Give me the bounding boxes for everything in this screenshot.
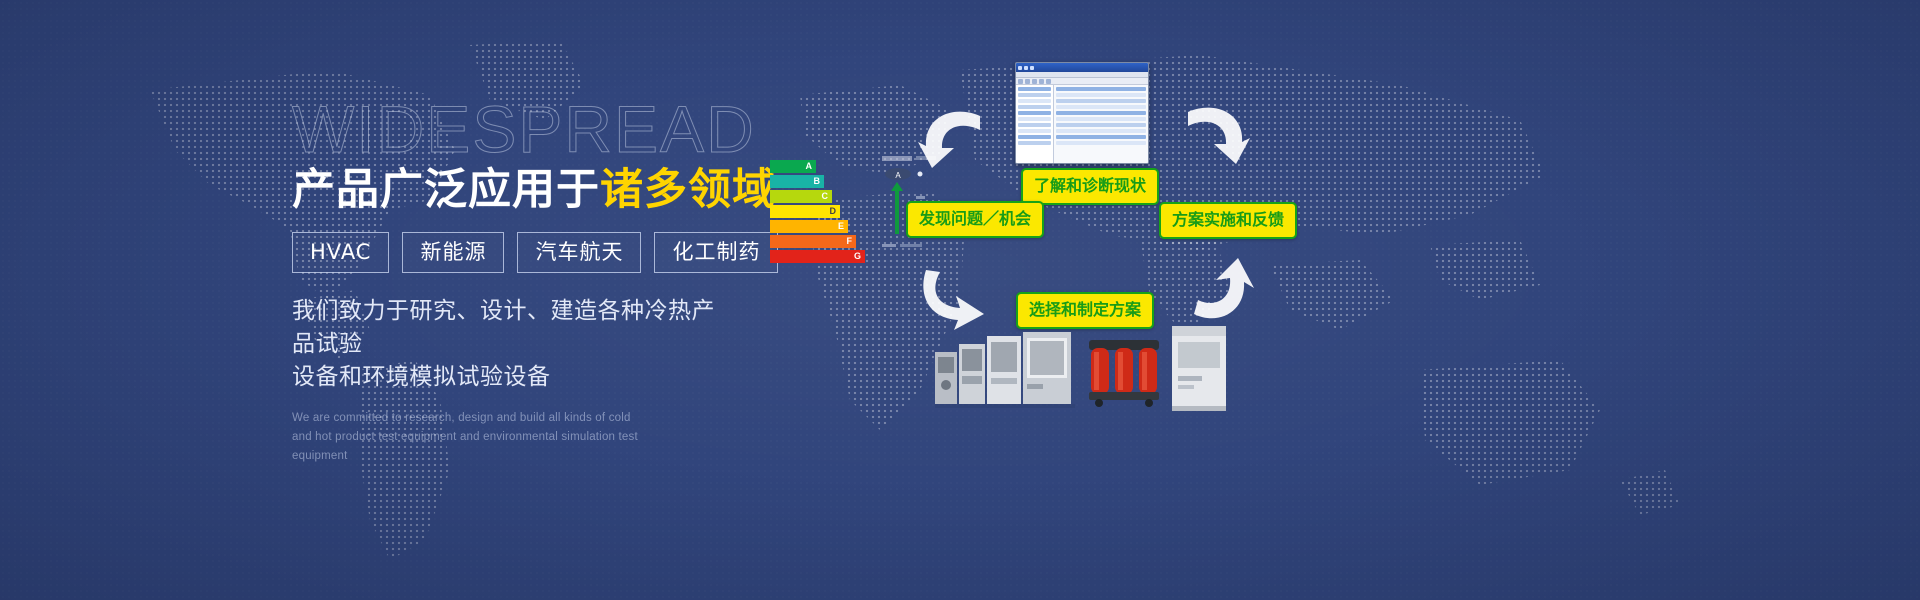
energy-grade-d: D — [830, 206, 837, 216]
ghost-title: WIDESPREAD — [292, 96, 812, 162]
window-body — [1016, 85, 1148, 164]
english-caption: We are committed to research, design and… — [292, 409, 682, 465]
english-line-1: We are committed to research, design and… — [292, 409, 682, 428]
process-cycle-diagram: A B C D E F G A — [760, 0, 1920, 600]
left-content: WIDESPREAD 产品广泛应用于诸多领域 HVAC 新能源 汽车航天 化工制… — [292, 96, 812, 465]
energy-grade-e: E — [838, 221, 844, 231]
list-item — [1018, 99, 1051, 103]
window-main-panel — [1054, 85, 1148, 164]
energy-bar-a: A — [770, 160, 816, 173]
arrow-bottom-left-icon — [914, 264, 994, 336]
headline-white-part: 产品广泛应用于 — [292, 165, 600, 215]
equipment-group-right — [1170, 326, 1228, 412]
arrow-top-left-icon — [910, 108, 990, 176]
energy-grade-c: C — [822, 191, 829, 201]
energy-bar-e: E — [770, 220, 848, 233]
lead-paragraph: 我们致力于研究、设计、建造各种冷热产品试验 设备和环境模拟试验设备 — [292, 295, 732, 393]
window-close-icon — [1030, 66, 1034, 70]
toolbar-icon-2 — [1025, 79, 1030, 84]
window-title-bar — [1016, 63, 1148, 72]
step-discover[interactable]: 发现问题／机会 — [906, 201, 1044, 238]
equipment-group-center — [1085, 334, 1165, 408]
window-toolbar — [1016, 78, 1148, 85]
table-row — [1056, 87, 1146, 91]
list-item — [1018, 141, 1051, 145]
step-implement[interactable]: 方案实施和反馈 — [1159, 202, 1297, 239]
promo-banner: WIDESPREAD 产品广泛应用于诸多领域 HVAC 新能源 汽车航天 化工制… — [0, 0, 1920, 600]
lead-line-1: 我们致力于研究、设计、建造各种冷热产品试验 — [292, 295, 732, 360]
energy-label-chart: A B C D E F G — [770, 160, 878, 265]
energy-bar-c: C — [770, 190, 832, 203]
software-screenshot[interactable] — [1015, 62, 1149, 164]
list-item — [1018, 117, 1051, 121]
window-minimize-icon — [1024, 66, 1028, 70]
list-item — [1018, 123, 1051, 127]
tag-hvac[interactable]: HVAC — [292, 232, 389, 273]
energy-grade-a: A — [806, 161, 813, 171]
arrow-bottom-right-icon — [1184, 256, 1264, 328]
step-plan[interactable]: 选择和制定方案 — [1016, 292, 1154, 329]
headline-yellow-part: 诸多领域 — [600, 165, 776, 215]
table-row — [1056, 135, 1146, 139]
step-diagnose[interactable]: 了解和诊断现状 — [1021, 168, 1159, 205]
window-sidebar-panel — [1016, 85, 1054, 164]
table-row — [1056, 93, 1146, 97]
toolbar-icon-3 — [1032, 79, 1037, 84]
table-row — [1056, 99, 1146, 103]
table-row — [1056, 111, 1146, 115]
energy-bar-f: F — [770, 235, 856, 248]
energy-bar-b: B — [770, 175, 824, 188]
toolbar-icon-1 — [1018, 79, 1023, 84]
table-row — [1056, 105, 1146, 109]
list-item — [1018, 129, 1051, 133]
list-item — [1018, 111, 1051, 115]
lead-line-2: 设备和环境模拟试验设备 — [292, 361, 732, 394]
tag-automotive-aerospace[interactable]: 汽车航天 — [517, 232, 641, 273]
table-row — [1056, 123, 1146, 127]
equipment-group-left — [935, 330, 1075, 410]
list-item — [1018, 105, 1051, 109]
window-icon — [1018, 66, 1022, 70]
tag-new-energy[interactable]: 新能源 — [402, 232, 504, 273]
toolbar-icon-4 — [1039, 79, 1044, 84]
svg-text:A: A — [895, 171, 901, 180]
energy-bar-d: D — [770, 205, 840, 218]
table-row — [1056, 117, 1146, 121]
list-item — [1018, 135, 1051, 139]
english-line-2: and hot product test equipment and envir… — [292, 428, 682, 465]
arrow-top-right-icon — [1178, 104, 1258, 172]
energy-grade-b: B — [814, 176, 821, 186]
energy-grade-f: F — [847, 236, 853, 246]
page-title: 产品广泛应用于诸多领域 — [292, 166, 812, 214]
list-item — [1018, 93, 1051, 97]
tag-list: HVAC 新能源 汽车航天 化工制药 — [292, 232, 812, 273]
energy-grade-g: G — [854, 251, 861, 261]
table-row — [1056, 129, 1146, 133]
energy-bar-g: G — [770, 250, 865, 263]
table-row — [1056, 141, 1146, 145]
toolbar-icon-5 — [1046, 79, 1051, 84]
list-item — [1018, 87, 1051, 91]
